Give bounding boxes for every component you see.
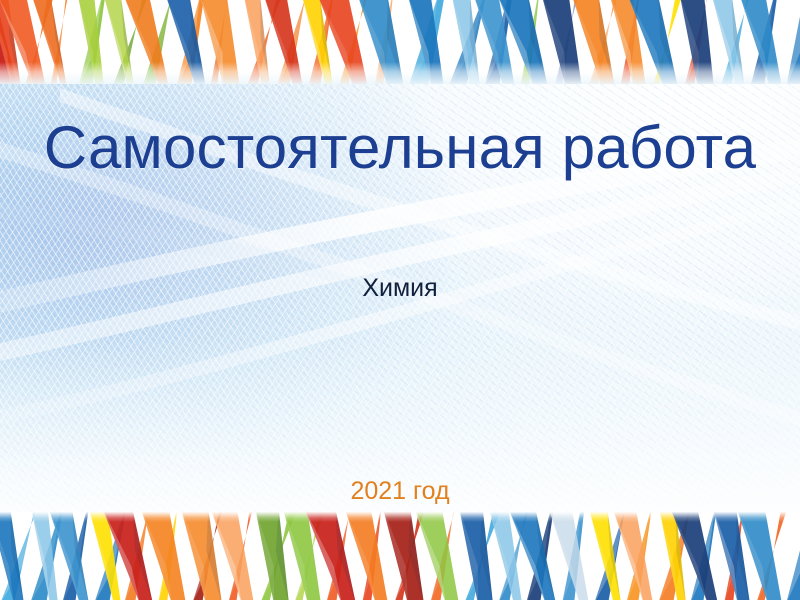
presentation-slide: Самостоятельная работа Химия 2021 год: [0, 0, 800, 600]
slide-title: Самостоятельная работа: [0, 112, 800, 184]
slide-year: 2021 год: [0, 475, 800, 507]
decorative-band-bottom: [0, 512, 800, 600]
decorative-band-top: [0, 0, 800, 84]
slide-subtitle: Химия: [0, 272, 800, 304]
